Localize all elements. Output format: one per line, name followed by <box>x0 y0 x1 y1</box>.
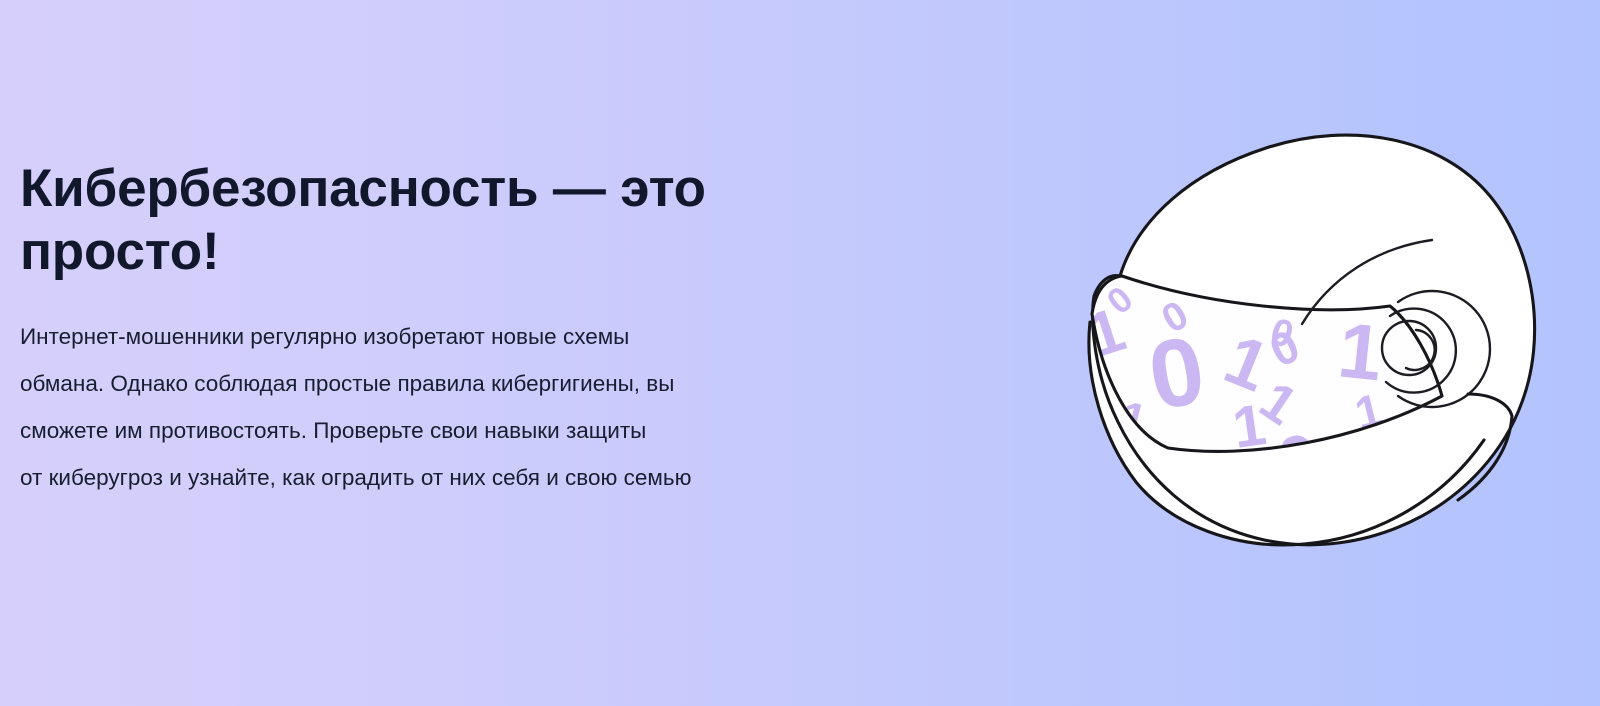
description-line: от киберугроз и узнайте, как оградить от… <box>20 454 950 501</box>
hero-description: Интернет-мошенники регулярно изобретают … <box>20 283 950 501</box>
description-line: Интернет-мошенники регулярно изобретают … <box>20 313 950 360</box>
description-line: сможете им противостоять. Проверьте свои… <box>20 407 950 454</box>
hero-text-column: Кибербезопасность — это просто! Интернет… <box>20 158 980 501</box>
description-line: обмана. Однако соблюдая простые правила … <box>20 360 950 407</box>
helmet-illustration: 1 1 0 1 1 1 0 0 1 0 0 1 0 <box>1060 110 1560 580</box>
page-title: Кибербезопасность — это просто! <box>20 158 890 283</box>
hero-banner: Кибербезопасность — это просто! Интернет… <box>0 0 1600 706</box>
binary-digit: 1 <box>1334 305 1386 397</box>
